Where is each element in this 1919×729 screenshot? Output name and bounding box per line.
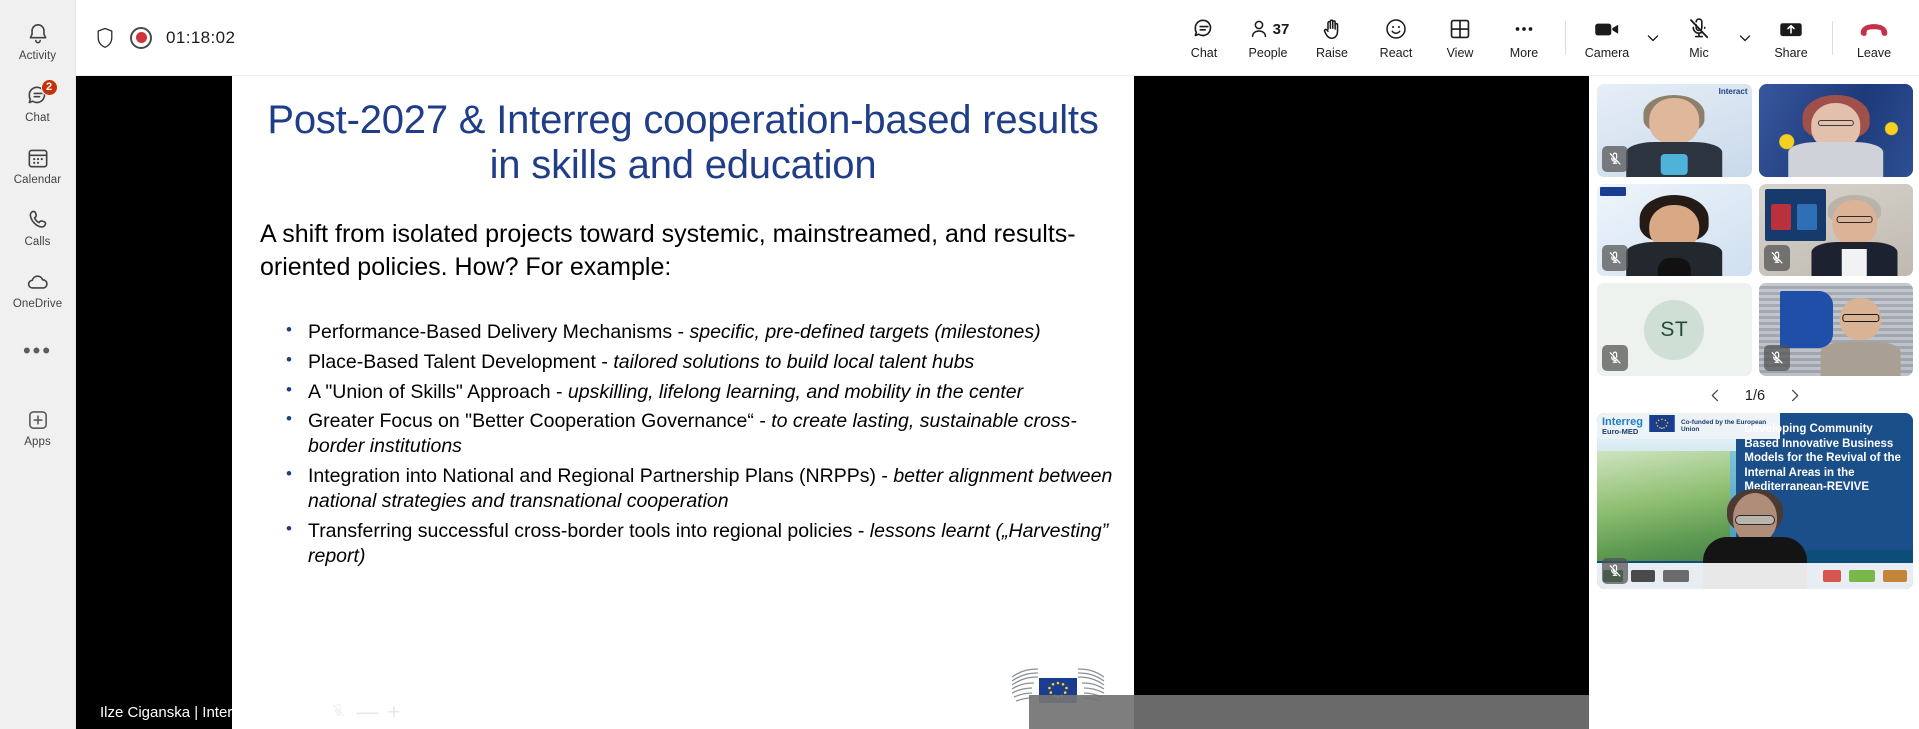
view-button[interactable]: View — [1429, 9, 1491, 67]
raise-hand-icon — [1319, 15, 1345, 43]
chat-button-label: Chat — [1191, 46, 1217, 60]
slide-bullet-item: Place-Based Talent Development - tailore… — [286, 350, 1116, 375]
sidebar-item-calendar[interactable]: Calendar — [0, 134, 76, 196]
participant-tile-5[interactable]: ST — [1597, 283, 1752, 376]
chat-icon: 2 — [25, 83, 51, 109]
featured-video-tile[interactable]: Developing Community Based Innovative Bu… — [1597, 413, 1913, 589]
bullet-lead-text: Integration into National and Regional P… — [308, 465, 893, 487]
raise-hand-label: Raise — [1316, 46, 1348, 60]
slide-bullet-item: A "Union of Skills" Approach - upskillin… — [286, 380, 1116, 405]
sidebar-item-label: Calls — [24, 236, 50, 248]
sidebar-item-label: OneDrive — [13, 298, 62, 310]
mic-off-icon — [1602, 345, 1628, 371]
chat-icon — [1191, 15, 1217, 43]
cofunded-label: Co-funded by the European Union — [1681, 419, 1775, 434]
camera-icon — [1592, 15, 1622, 43]
mic-off-icon — [1764, 245, 1790, 271]
share-button-label: Share — [1774, 46, 1807, 60]
gallery-page-indicator: 1/6 — [1745, 388, 1765, 404]
sidebar-item-chat[interactable]: 2 Chat — [0, 72, 76, 134]
presenter-name-strip: Ilze Ciganska | Interact (External) — + — [76, 695, 1589, 729]
mic-chevron-down-icon[interactable] — [1732, 9, 1758, 67]
record-icon[interactable] — [130, 27, 152, 49]
tile-overlay-brand: Interact — [1719, 87, 1748, 96]
people-button[interactable]: 37 People — [1237, 9, 1299, 67]
slide-subtitle: A shift from isolated projects toward sy… — [250, 218, 1116, 284]
mic-off-icon — [1602, 558, 1628, 584]
presentation-slide: Post-2027 & Interreg cooperation-based r… — [232, 76, 1134, 729]
participant-video-1 — [1626, 95, 1722, 177]
left-app-rail: Activity 2 Chat — [0, 0, 76, 729]
participant-tile-3[interactable] — [1597, 184, 1752, 277]
chat-button[interactable]: Chat — [1173, 9, 1235, 67]
sidebar-item-calls[interactable]: Calls — [0, 196, 76, 258]
participant-gallery: Interact — [1589, 76, 1919, 729]
share-up-icon — [1776, 15, 1806, 43]
bullet-italic-text: specific, pre-defined targets (milestone… — [689, 321, 1040, 343]
bullet-lead-text: Transferring successful cross-border too… — [308, 520, 870, 542]
calendar-icon — [25, 145, 51, 171]
participant-video-3 — [1626, 195, 1722, 277]
slide-bullet-item: Integration into National and Regional P… — [286, 464, 1116, 514]
more-button[interactable]: More — [1493, 9, 1555, 67]
shield-icon[interactable] — [94, 26, 116, 50]
meeting-timer: 01:18:02 — [166, 28, 235, 48]
meeting-stage: Post-2027 & Interreg cooperation-based r… — [76, 76, 1919, 729]
sidebar-item-more[interactable]: ••• — [0, 320, 76, 382]
more-dots-icon — [1511, 15, 1537, 43]
zoom-in-button[interactable]: + — [387, 701, 400, 723]
mic-off-icon — [1602, 146, 1628, 172]
bullet-italic-text: upskilling, lifelong learning, and mobil… — [568, 381, 1023, 403]
bullet-italic-text: tailored solutions to build local talent… — [613, 351, 974, 373]
meeting-main: 01:18:02 Chat — [76, 0, 1919, 729]
participant-video-2 — [1788, 95, 1884, 177]
more-button-label: More — [1510, 46, 1538, 60]
sidebar-item-activity[interactable]: Activity — [0, 10, 76, 72]
interreg-logo-subtext: Euro-MED — [1602, 428, 1643, 436]
view-grid-icon — [1447, 15, 1473, 43]
cloud-icon — [25, 269, 51, 295]
mic-off-icon — [1602, 245, 1628, 271]
bullet-lead-text: Greater Focus on "Better Cooperation Gov… — [308, 410, 771, 432]
sidebar-item-label: Activity — [19, 50, 56, 62]
people-icon-group: 37 — [1247, 15, 1290, 43]
slide-bullet-item: Transferring successful cross-border too… — [286, 519, 1116, 569]
toolbar-divider-2 — [1832, 21, 1833, 55]
participant-tile-4[interactable] — [1759, 184, 1914, 277]
participant-tile-1[interactable]: Interact — [1597, 84, 1752, 177]
people-button-label: People — [1249, 46, 1288, 60]
slide-bullet-list: Performance-Based Delivery Mechanisms - … — [250, 320, 1116, 570]
people-count: 37 — [1273, 21, 1290, 38]
chevron-left-icon[interactable] — [1706, 386, 1725, 405]
bell-icon — [25, 21, 51, 47]
avatar: ST — [1644, 300, 1704, 360]
view-button-label: View — [1447, 46, 1474, 60]
interreg-logo-text: Interreg — [1602, 416, 1643, 428]
bullet-lead-text: Performance-Based Delivery Mechanisms - — [308, 321, 689, 343]
more-dots-icon: ••• — [23, 340, 52, 362]
slide-title: Post-2027 & Interreg cooperation-based r… — [250, 98, 1116, 188]
share-button[interactable]: Share — [1760, 9, 1822, 67]
participant-video-4 — [1811, 195, 1898, 277]
sidebar-item-onedrive[interactable]: OneDrive — [0, 258, 76, 320]
camera-button-label: Camera — [1585, 46, 1629, 60]
hangup-icon — [1857, 15, 1891, 43]
mic-button[interactable]: Mic — [1668, 9, 1730, 67]
teams-meeting-window: Activity 2 Chat — [0, 0, 1919, 729]
mic-button-label: Mic — [1689, 46, 1708, 60]
interreg-branding-bar: Interreg Euro-MED — [1597, 413, 1780, 439]
raise-hand-button[interactable]: Raise — [1301, 9, 1363, 67]
toolbar-left-group: 01:18:02 — [94, 26, 235, 50]
gallery-pager: 1/6 — [1597, 382, 1913, 407]
meeting-toolbar: 01:18:02 Chat — [76, 0, 1919, 76]
sidebar-item-label: Chat — [25, 112, 50, 124]
react-button[interactable]: React — [1365, 9, 1427, 67]
mic-off-icon — [1686, 15, 1712, 43]
participant-tile-2[interactable] — [1759, 84, 1914, 177]
shared-content-area[interactable]: Post-2027 & Interreg cooperation-based r… — [76, 76, 1589, 729]
apps-plus-icon — [25, 407, 51, 433]
mic-off-icon — [330, 702, 347, 723]
sidebar-item-label: Calendar — [14, 174, 61, 186]
mic-off-icon — [1764, 345, 1790, 371]
react-smiley-icon — [1383, 15, 1409, 43]
presenter-name: Ilze Ciganska | Interact (External) — [100, 704, 321, 721]
phone-icon — [25, 207, 51, 233]
camera-chevron-down-icon[interactable] — [1640, 9, 1666, 67]
slide-bullet-item: Performance-Based Delivery Mechanisms - … — [286, 320, 1116, 345]
participant-tile-grid: Interact — [1597, 84, 1913, 376]
eu-flag-icon — [1649, 415, 1675, 437]
zoom-out-button[interactable]: — — [356, 701, 378, 723]
react-button-label: React — [1380, 46, 1413, 60]
participant-tile-6[interactable] — [1759, 283, 1914, 376]
chat-unread-badge: 2 — [41, 79, 58, 96]
participant-video-6 — [1820, 295, 1900, 377]
bullet-lead-text: A "Union of Skills" Approach - — [308, 381, 568, 403]
toolbar-divider — [1565, 21, 1566, 55]
toolbar-actions: Chat 37 People — [1173, 9, 1905, 67]
partner-logo-strip — [1597, 563, 1913, 589]
leave-button[interactable]: Leave — [1843, 9, 1905, 67]
chevron-right-icon[interactable] — [1785, 386, 1804, 405]
interreg-logo: Interreg Euro-MED — [1602, 417, 1643, 436]
slide-bullet-item: Greater Focus on "Better Cooperation Gov… — [286, 409, 1116, 459]
leave-button-label: Leave — [1857, 46, 1891, 60]
bullet-lead-text: Place-Based Talent Development - — [308, 351, 613, 373]
sidebar-item-label: Apps — [24, 436, 51, 448]
camera-button[interactable]: Camera — [1576, 9, 1638, 67]
sidebar-item-apps[interactable]: Apps — [0, 396, 76, 458]
